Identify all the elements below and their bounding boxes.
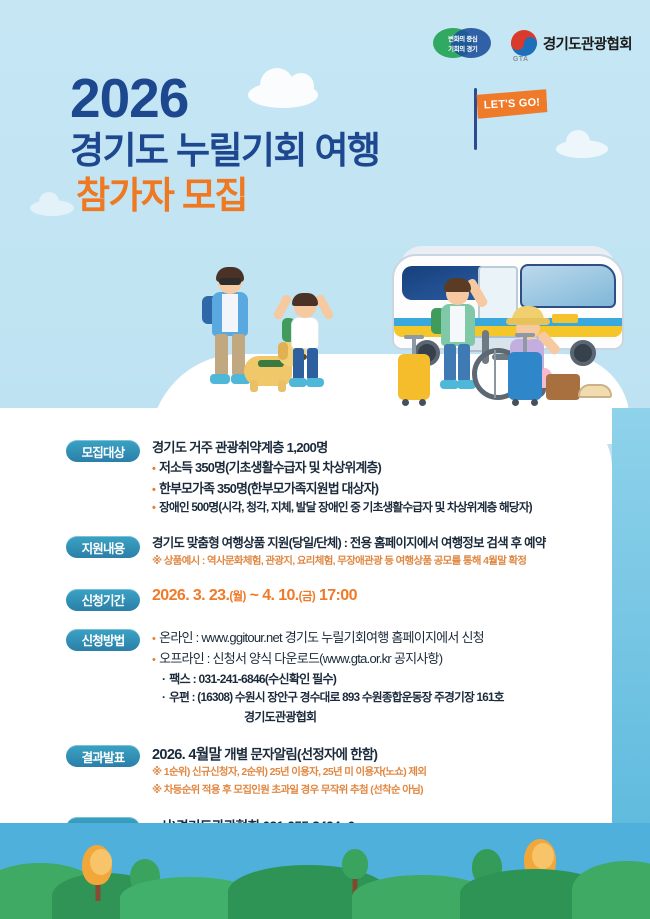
headline-block: 2026 경기도 누릴기회 여행 참가자 모집 <box>70 72 379 218</box>
method-bullet-2: 오프라인 : 신청서 양식 다운로드(www.gta.or.kr 공지사항) <box>152 648 586 670</box>
method-sub-continued: 경기도관광협회 <box>152 708 586 727</box>
gg-logo-line1: 변화의 중심 <box>448 34 477 43</box>
period-day-a: (월) <box>229 591 245 603</box>
row-support: 지원내용 경기도 맞춤형 여행상품 지원(당일/단체) : 전용 홈페이지에서 … <box>66 534 586 570</box>
bush-shape <box>572 861 650 919</box>
suitcase-blue-icon <box>508 352 542 400</box>
tree-orange <box>78 855 118 901</box>
info-card: 모집대상 경기도 거주 관광취약계층 1,200명 저소득 350명(기초생활수… <box>0 408 612 860</box>
gta-name: 경기도관광협회 <box>543 33 632 54</box>
row-period: 신청기간 2026. 3. 23.(월) ~ 4. 10.(금) 17:00 <box>66 587 586 611</box>
taeguk-icon: GTA <box>511 30 537 56</box>
support-main: 경기도 맞춤형 여행상품 지원(당일/단체) : 전용 홈페이지에서 여행정보 … <box>152 534 586 553</box>
result-note-1: ※ 1순위) 신규신청자, 2순위) 25년 이용자, 25년 미 이용자(노쇼… <box>152 764 586 782</box>
suitcase-yellow-icon <box>398 354 430 400</box>
method-sub-mail: 우편 : (16308) 수원시 장안구 경수대로 893 수원종합운동장 주경… <box>152 689 586 708</box>
poster-root: 변화의 중심 기회의 경기 GTA 경기도관광협회 2026 경기도 누릴기회 … <box>0 0 650 919</box>
person-child-boy <box>276 290 336 388</box>
target-bullet-3: 장애인 500명(시각, 청각, 지체, 발달 장애인 중 기초생활수급자 및 … <box>152 499 586 518</box>
support-note: ※ 상품예시 : 역사문화체험, 관광지, 요리체험, 무장애관광 등 여행상품… <box>152 553 586 571</box>
headline-main: 경기도 누릴기회 여행 <box>70 129 379 173</box>
headline-sub: 참가자 모집 <box>70 174 379 218</box>
target-main: 경기도 거주 관광취약계층 1,200명 <box>152 438 586 458</box>
result-date: 2026. 4월말 <box>152 747 221 763</box>
method-sub-fax: 팩스 : 031-241-6846(수신확인 필수) <box>152 670 586 689</box>
row-method: 신청방법 온라인 : www.ggitour.net 경기도 누릴기회여행 홈페… <box>66 627 586 728</box>
target-bullet-1: 저소득 350명(기초생활수급자 및 차상위계층) <box>152 458 586 479</box>
cloud-icon <box>30 200 74 216</box>
badge-period: 신청기간 <box>66 589 140 611</box>
flag-label: LET'S GO! <box>476 89 547 119</box>
badge-result: 결과발표 <box>66 745 140 767</box>
target-bullet-2: 한부모가족 350명(한부모가족지원법 대상자) <box>152 479 586 500</box>
period-tilde: ~ <box>246 587 262 604</box>
badge-support: 지원내용 <box>66 536 140 558</box>
gg-logo-line2: 기회의 경기 <box>448 44 477 53</box>
method-bullet-1: 온라인 : www.ggitour.net 경기도 누릴기회여행 홈페이지에서 … <box>152 627 586 649</box>
result-note-2: ※ 차등순위 적용 후 모집인원 초과일 경우 무작위 추첨 (선착순 아님) <box>152 782 586 800</box>
period-date-a: 2026. 3. 23. <box>152 587 229 604</box>
result-main: 2026. 4월말 개별 문자알림(선정자에 한함) <box>152 743 586 764</box>
period-day-b: (금) <box>299 591 315 603</box>
cloud-icon <box>556 140 608 158</box>
row-target: 모집대상 경기도 거주 관광취약계층 1,200명 저소득 350명(기초생활수… <box>66 438 586 518</box>
headline-year: 2026 <box>70 72 379 125</box>
period-date-b: 4. 10. <box>262 587 298 604</box>
result-rest: 개별 문자알림(선정자에 한함) <box>221 747 377 762</box>
period-value: 2026. 3. 23.(월) ~ 4. 10.(금) 17:00 <box>152 587 586 605</box>
gta-abbr: GTA <box>513 56 529 63</box>
gyeonggi-slogan-logo: 변화의 중심 기회의 경기 <box>433 26 493 60</box>
badge-method: 신청방법 <box>66 629 140 651</box>
straw-hat-icon <box>578 384 612 398</box>
gyeonggi-logo-mark: 변화의 중심 기회의 경기 <box>433 26 493 60</box>
row-result: 결과발표 2026. 4월말 개별 문자알림(선정자에 한함) ※ 1순위) 신… <box>66 743 586 799</box>
side-color-band <box>612 408 650 860</box>
info-rows: 모집대상 경기도 거주 관광취약계층 1,200명 저소득 350명(기초생활수… <box>66 438 586 842</box>
gta-logo: GTA 경기도관광협회 <box>511 30 632 56</box>
suitcase-brown-icon <box>546 374 580 400</box>
badge-target: 모집대상 <box>66 440 140 462</box>
flag-pole-icon <box>474 88 477 150</box>
period-time: 17:00 <box>315 587 357 604</box>
logo-bar: 변화의 중심 기회의 경기 GTA 경기도관광협회 <box>433 26 632 60</box>
foliage-decoration <box>0 823 650 919</box>
